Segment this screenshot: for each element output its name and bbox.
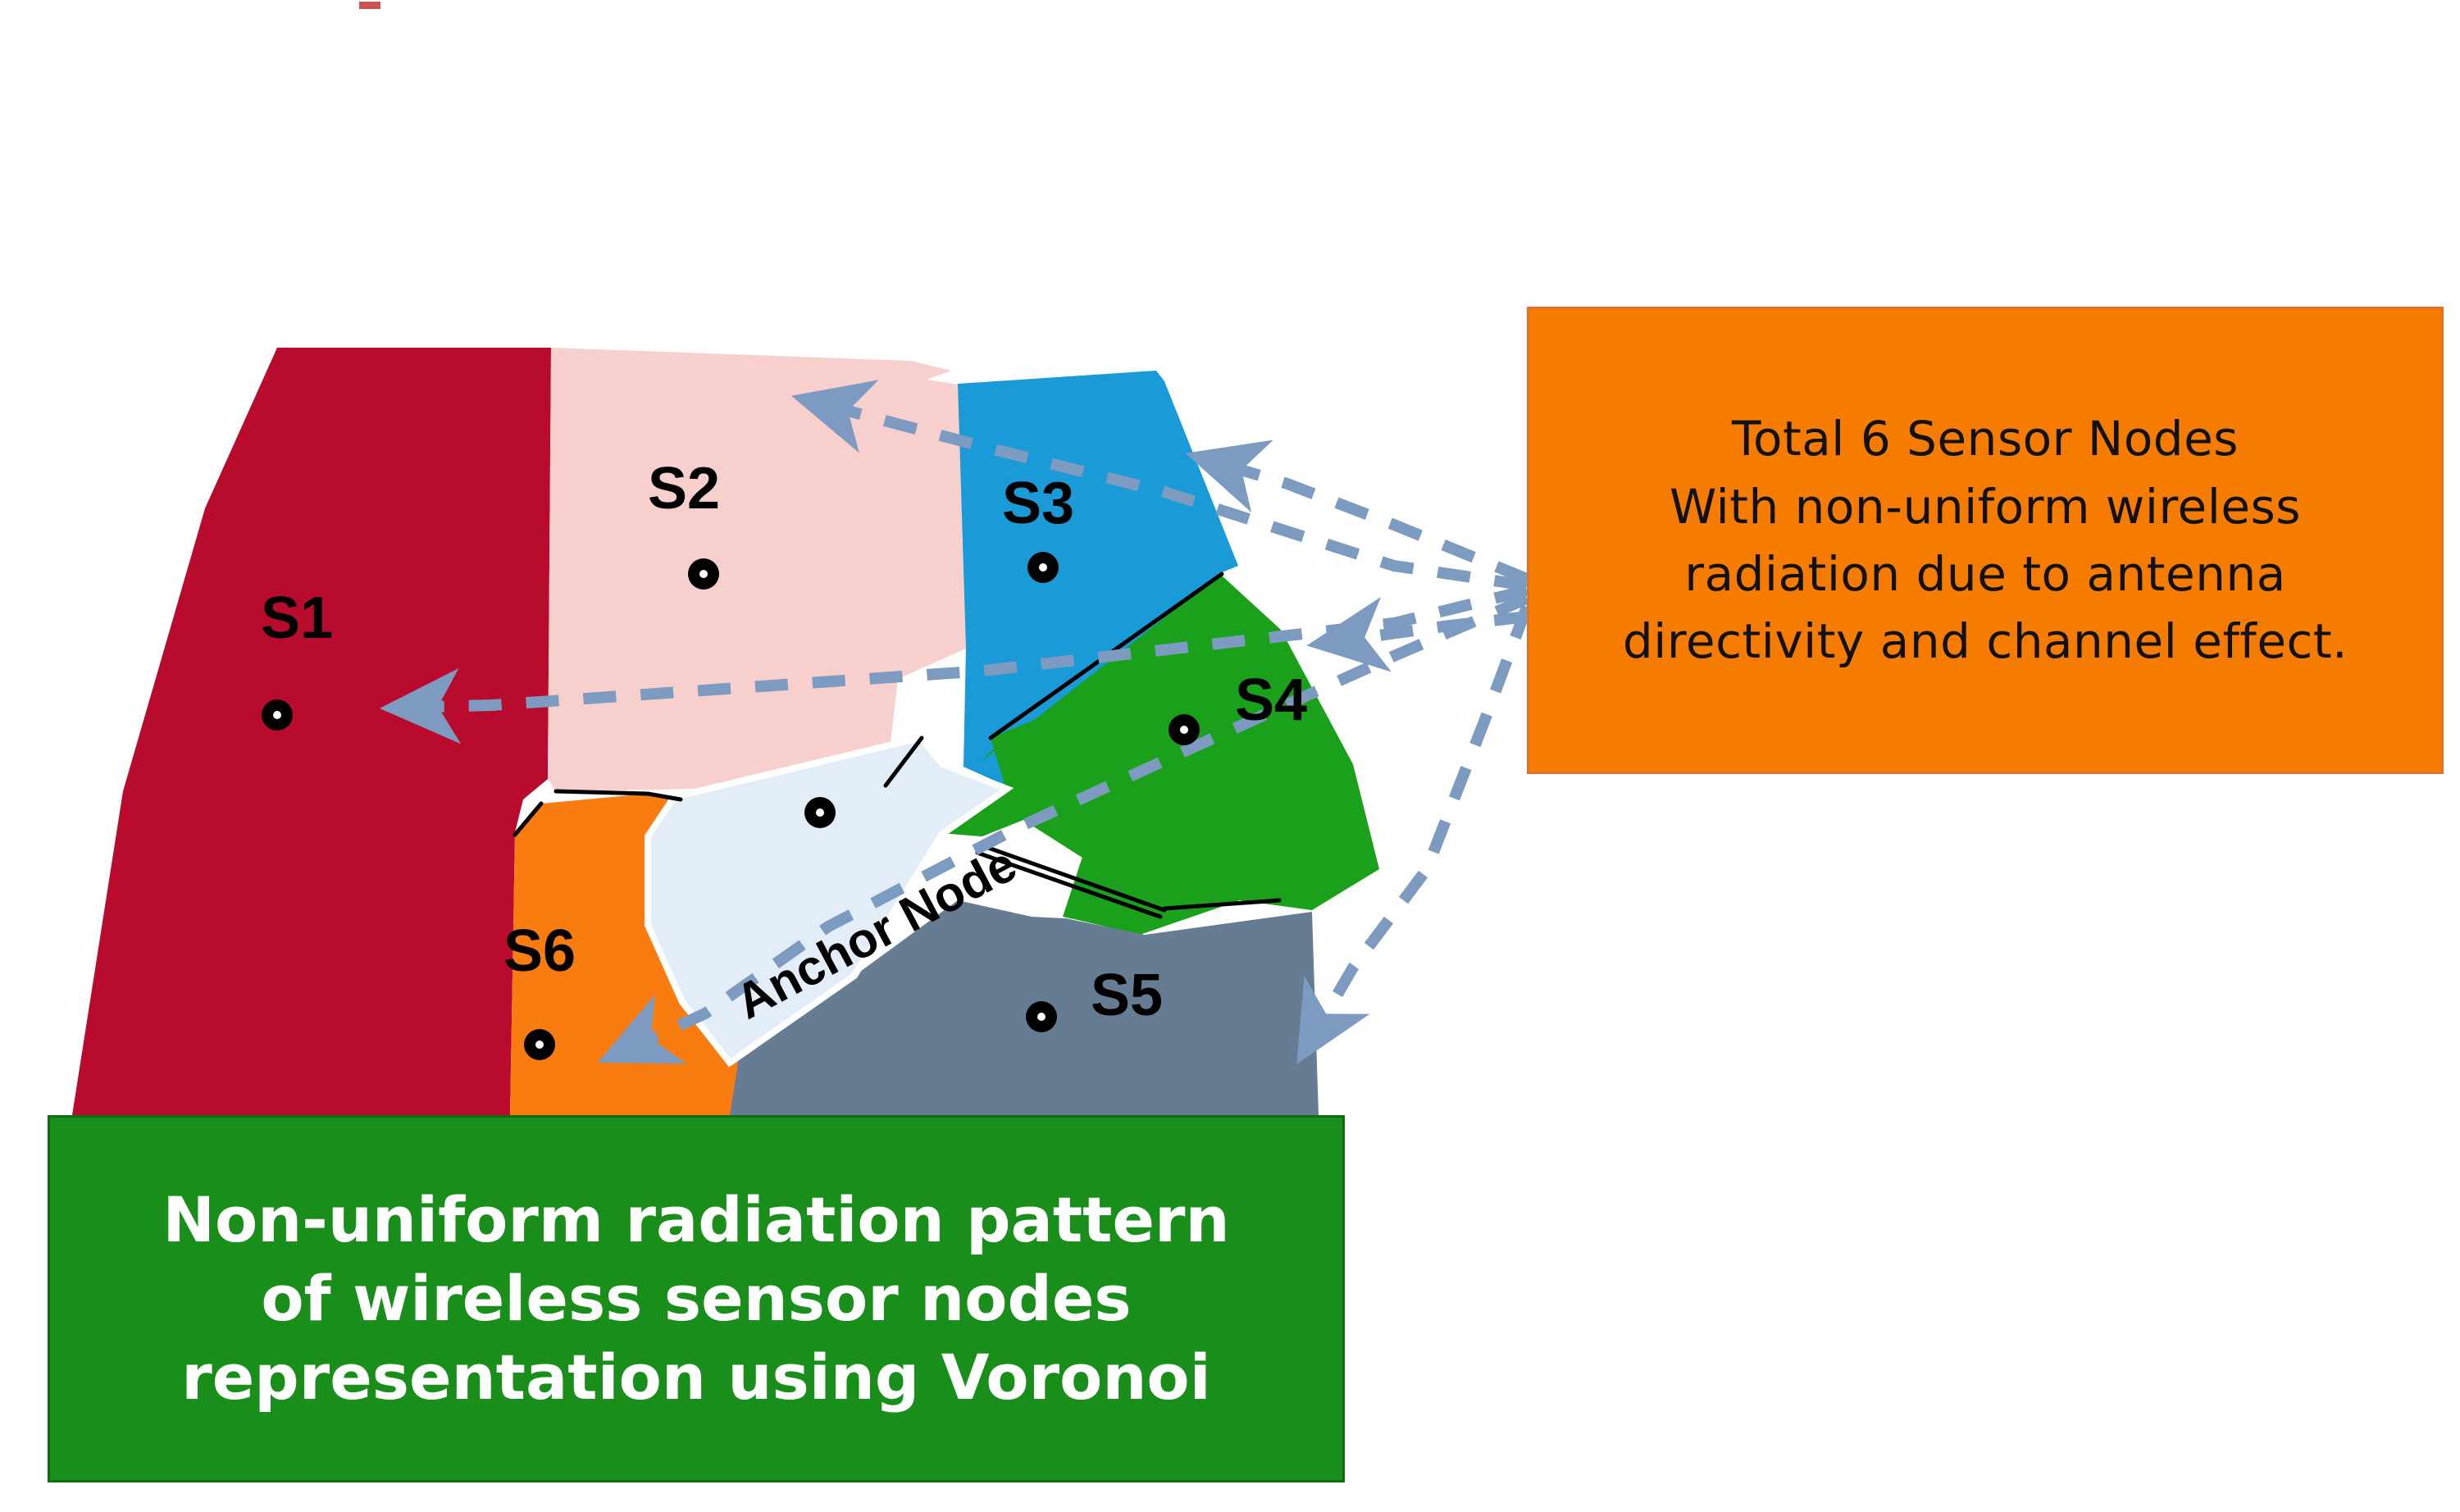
caption-line-2: of wireless sensor nodes	[261, 1259, 1131, 1338]
info-line-4: directivity and channel effect.	[1623, 608, 2348, 675]
info-line-2: With non-uniform wireless	[1670, 473, 2301, 540]
node-dot-s3-core	[1039, 563, 1047, 572]
caption-line-1: Non-uniform radiation pattern	[162, 1181, 1229, 1259]
caption-box: Non-uniform radiation pattern of wireles…	[48, 1115, 1345, 1482]
info-callout-box: Total 6 Sensor Nodes With non-uniform wi…	[1527, 307, 2444, 774]
node-dot-anchor-core	[816, 808, 824, 817]
region-label-s5: S5	[1091, 966, 1163, 1025]
node-dot-s2-core	[699, 570, 708, 578]
region-label-s4: S4	[1235, 671, 1307, 730]
diagram-canvas: S1 S2 S3 S4 S5 S6 Anchor Node Total 6 Se…	[0, 0, 2460, 1512]
node-dot-s6-core	[535, 1041, 544, 1049]
region-label-s2: S2	[648, 459, 720, 518]
info-line-3: radiation due to antenna	[1684, 540, 2286, 608]
caption-line-3: representation using Voronoi	[181, 1338, 1210, 1417]
region-label-s3: S3	[1002, 474, 1074, 533]
stray-red-mark	[359, 2, 380, 9]
region-label-s1: S1	[261, 589, 333, 648]
node-dot-s5-core	[1037, 1013, 1045, 1021]
node-dot-s1-core	[273, 711, 281, 719]
info-line-1: Total 6 Sensor Nodes	[1732, 405, 2239, 472]
node-dot-s4-core	[1180, 726, 1188, 734]
region-label-s6: S6	[503, 922, 576, 981]
